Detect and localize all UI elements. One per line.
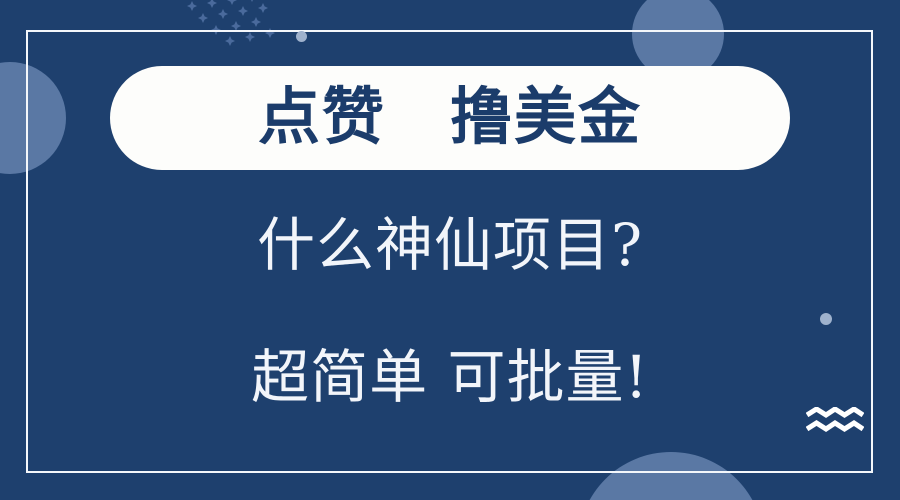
banner-title: 点赞 撸美金 bbox=[258, 86, 642, 148]
dot-decoration-top bbox=[296, 31, 307, 42]
headline-line-2: 超简单 可批量! bbox=[0, 348, 900, 406]
headline-banner: 点赞 撸美金 bbox=[110, 66, 790, 170]
headline-line-1: 什么神仙项目? bbox=[0, 216, 900, 274]
wave-icon bbox=[806, 407, 864, 435]
dot-decoration-right bbox=[820, 313, 832, 325]
promo-poster: 点赞 撸美金 什么神仙项目? 超简单 可批量! bbox=[0, 0, 900, 500]
